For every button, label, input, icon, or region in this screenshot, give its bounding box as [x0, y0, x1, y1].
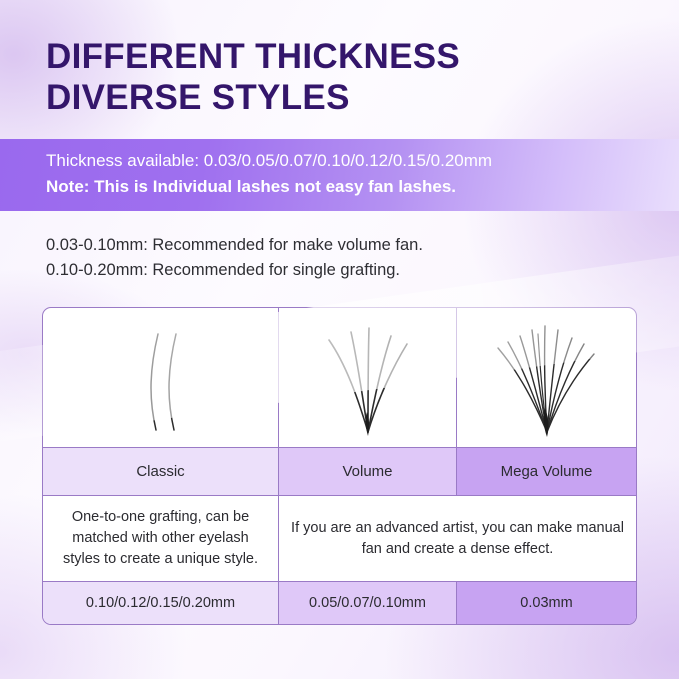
table-row-images — [43, 308, 636, 448]
recommendation-list: 0.03-0.10mm: Recommended for make volume… — [46, 233, 646, 283]
mega-volume-fan-cell — [457, 308, 636, 448]
label-volume: Volume — [279, 448, 457, 496]
recommendation-line-1: 0.03-0.10mm: Recommended for make volume… — [46, 233, 646, 258]
title-line-1: DIFFERENT THICKNESS — [46, 36, 646, 77]
volume-fan-cell — [279, 308, 457, 448]
table-row-labels: Classic Volume Mega Volume — [43, 448, 636, 496]
lash-style-table: Classic Volume Mega Volume One-to-one gr… — [42, 307, 637, 625]
thickness-mega-volume: 0.03mm — [457, 582, 636, 624]
label-classic: Classic — [43, 448, 279, 496]
thickness-volume: 0.05/0.07/0.10mm — [279, 582, 457, 624]
recommendation-line-2: 0.10-0.20mm: Recommended for single graf… — [46, 258, 646, 283]
table-row-descriptions: One-to-one grafting, can be matched with… — [43, 496, 636, 582]
title-line-2: DIVERSE STYLES — [46, 77, 646, 118]
label-mega-volume: Mega Volume — [457, 448, 636, 496]
poster-root: DIFFERENT THICKNESS DIVERSE STYLES Thick… — [0, 0, 679, 679]
description-volume-mega: If you are an advanced artist, you can m… — [279, 496, 636, 582]
table-row-thickness: 0.10/0.12/0.15/0.20mm 0.05/0.07/0.10mm 0… — [43, 582, 636, 624]
thickness-banner: Thickness available: 0.03/0.05/0.07/0.10… — [0, 139, 679, 211]
volume-fan-icon — [313, 318, 423, 438]
page-title: DIFFERENT THICKNESS DIVERSE STYLES — [46, 36, 646, 118]
banner-note-text: Note: This is Individual lashes not easy… — [46, 174, 679, 200]
mega-volume-fan-icon — [488, 318, 606, 438]
description-classic: One-to-one grafting, can be matched with… — [43, 496, 279, 582]
thickness-available-text: Thickness available: 0.03/0.05/0.07/0.10… — [46, 148, 679, 174]
classic-lash-icon — [106, 318, 216, 438]
thickness-classic: 0.10/0.12/0.15/0.20mm — [43, 582, 279, 624]
classic-lash-cell — [43, 308, 279, 448]
